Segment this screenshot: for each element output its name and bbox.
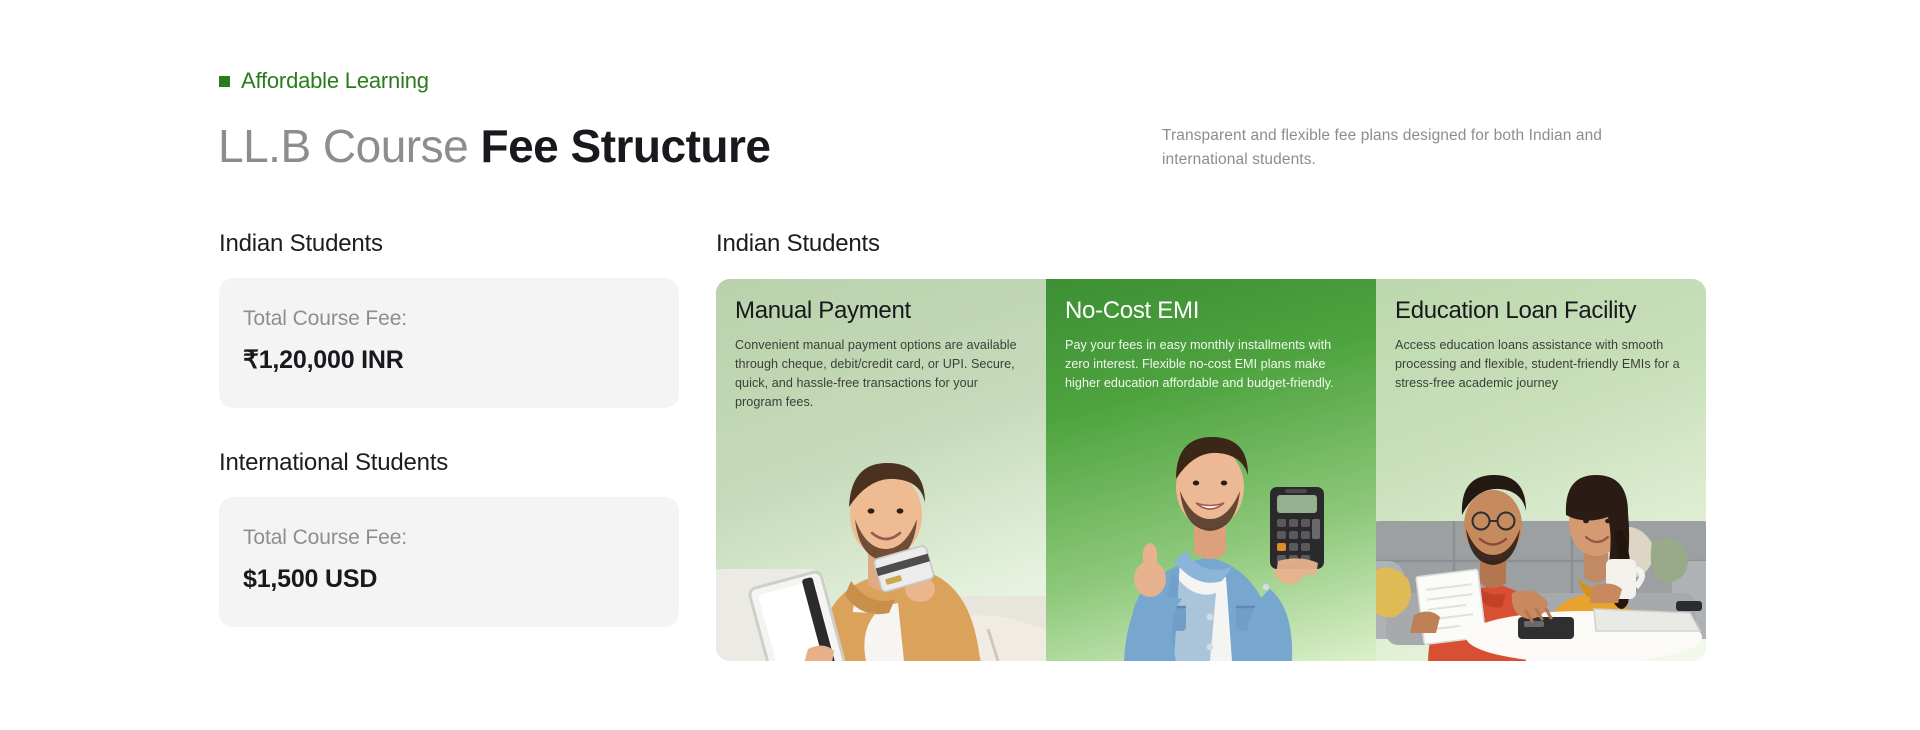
page-title: LL.B Course Fee Structure bbox=[218, 118, 771, 176]
panel-text: Manual Payment Convenient manual payment… bbox=[716, 279, 1046, 412]
international-students-fee-card: Total Course Fee: $1,500 USD bbox=[219, 497, 679, 627]
fee-value: $1,500 USD bbox=[243, 564, 655, 594]
international-students-heading: International Students bbox=[219, 449, 679, 478]
couple-reviewing-documents-on-sofa-photo bbox=[1376, 411, 1706, 661]
indian-students-fee-card: Total Course Fee: ₹1,20,000 INR bbox=[219, 278, 679, 408]
payment-options-column: Indian Students Manual Payment Convenien… bbox=[716, 230, 1706, 661]
payment-option-card[interactable]: No-Cost EMI Pay your fees in easy monthl… bbox=[1046, 279, 1376, 661]
panel-title: No-Cost EMI bbox=[1065, 297, 1357, 326]
panel-title: Manual Payment bbox=[735, 297, 1027, 326]
fee-label: Total Course Fee: bbox=[243, 306, 655, 331]
panel-description: Convenient manual payment options are av… bbox=[735, 336, 1027, 413]
eyebrow-label: Affordable Learning bbox=[241, 70, 429, 92]
panel-description: Pay your fees in easy monthly installmen… bbox=[1065, 336, 1357, 393]
page-title-muted: LL.B Course bbox=[218, 120, 480, 172]
eyebrow: Affordable Learning bbox=[219, 70, 429, 92]
man-with-tablet-and-credit-card-photo bbox=[716, 411, 1046, 661]
fee-structure-page: Affordable Learning LL.B Course Fee Stru… bbox=[0, 0, 1920, 730]
payment-option-card[interactable]: Manual Payment Convenient manual payment… bbox=[716, 279, 1046, 661]
panel-title: Education Loan Facility bbox=[1395, 297, 1687, 326]
panel-text: No-Cost EMI Pay your fees in easy monthl… bbox=[1046, 279, 1376, 393]
intro-paragraph: Transparent and flexible fee plans desig… bbox=[1162, 124, 1652, 172]
fee-label: Total Course Fee: bbox=[243, 525, 655, 550]
page-title-strong: Fee Structure bbox=[480, 120, 770, 172]
fee-summary-column: Indian Students Total Course Fee: ₹1,20,… bbox=[219, 230, 679, 627]
panel-text: Education Loan Facility Access education… bbox=[1376, 279, 1706, 393]
payment-option-card[interactable]: Education Loan Facility Access education… bbox=[1376, 279, 1706, 661]
man-thumbs-up-holding-calculator-photo bbox=[1046, 411, 1376, 661]
square-bullet-icon bbox=[219, 76, 230, 87]
spacer bbox=[219, 408, 679, 449]
payment-options-heading: Indian Students bbox=[716, 230, 1706, 259]
payment-option-panels: Manual Payment Convenient manual payment… bbox=[716, 279, 1706, 661]
fee-value: ₹1,20,000 INR bbox=[243, 345, 655, 375]
panel-description: Access education loans assistance with s… bbox=[1395, 336, 1687, 393]
indian-students-heading: Indian Students bbox=[219, 230, 679, 259]
